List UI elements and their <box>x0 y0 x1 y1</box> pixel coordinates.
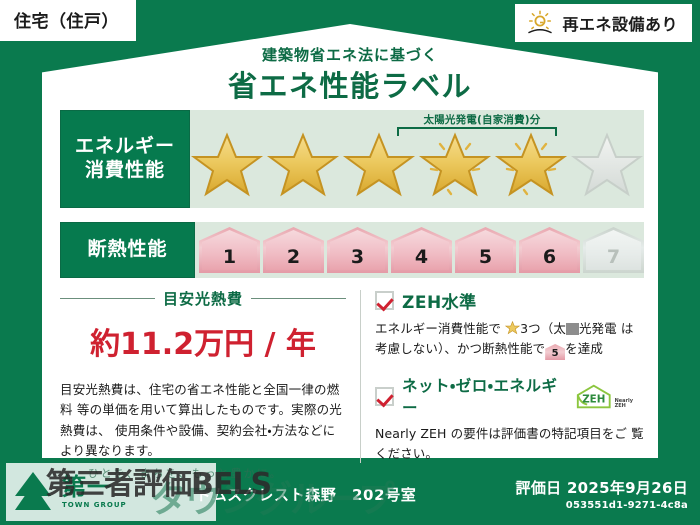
rule-left <box>60 298 155 299</box>
utility-cost-heading: 目安光熱費 <box>60 288 346 309</box>
insulation-grade-3: 3 <box>327 227 388 273</box>
insulation-label: 断熱性能 <box>87 238 167 262</box>
zeh-house-icon: ZEH <box>575 383 613 410</box>
evaluation-info: 評価日 2025年9月26日 053551d1-9271-4c8a <box>516 477 700 511</box>
svg-text:ZEH: ZEH <box>582 393 605 405</box>
claim-nze-body: Nearly ZEH の要件は評価書の特記項目をご 覧ください。 <box>375 424 644 464</box>
label-bottom-section: 目安光熱費 約11.2万円 / 年 目安光熱費は、住宅の省エネ性能と全国一律の燃… <box>60 288 644 478</box>
rule-right <box>251 298 346 299</box>
insulation-grade-5: 5 <box>455 227 516 273</box>
insulation-grade-4: 4 <box>391 227 452 273</box>
insulation-performance-row: 断熱性能 1 2 3 4 5 6 7 <box>60 222 644 278</box>
claim-zeh-text-mid2: 光発電 <box>579 321 617 336</box>
insulation-rating-panel: 1 2 3 4 5 6 7 <box>195 222 644 278</box>
energy-label-line1: エネルギー <box>75 135 175 159</box>
star-1-filled <box>190 128 264 200</box>
claim-zeh-level: ZEH水準 エネルギー消費性能で 3つ（太光発電 は考慮しない）、かつ断熱性能で… <box>375 288 644 360</box>
star-rating <box>190 128 644 200</box>
zeh-logo: ZEH Nearly ZEH <box>575 383 644 410</box>
claim-zeh-body: エネルギー消費性能で 3つ（太光発電 は考慮しない）、かつ断熱性能で5を達成 <box>375 319 644 360</box>
insulation-grade-7: 7 <box>583 227 644 273</box>
star-2-filled <box>266 128 340 200</box>
energy-performance-label-block: エネルギー 消費性能 <box>60 110 190 208</box>
utility-cost-section: 目安光熱費 約11.2万円 / 年 目安光熱費は、住宅の省エネ性能と全国一律の燃… <box>60 288 360 478</box>
zeh-logo-sub: Nearly ZEH <box>615 399 644 410</box>
claim-zeh-title: ZEH水準 <box>402 288 477 313</box>
inline-grade-badge: 5 <box>545 344 565 360</box>
utility-cost-heading-label: 目安光熱費 <box>163 288 243 309</box>
sun-icon <box>525 10 555 36</box>
claim-zeh-header: ZEH水準 <box>375 288 644 313</box>
insulation-grade-6: 6 <box>519 227 580 273</box>
energy-rating-panel: 太陽光発電(自家消費)分 <box>190 110 644 208</box>
claim-zeh-text-pre: エネルギー消費性能で <box>375 321 501 336</box>
solar-generation-note: 太陽光発電(自家消費)分 <box>382 112 582 127</box>
energy-performance-label: 住宅（住戸） 再エネ設備あり 建築物省エネ法に基づく 省エネ性能ラベル エネルギ… <box>0 0 700 525</box>
insulation-grade-scale: 1 2 3 4 5 6 7 <box>199 227 644 273</box>
claim-net-zero-energy: ネット・ゼロ・エネルギー ZEH Nearly ZEH Nearly ZEH の… <box>375 374 644 464</box>
dwelling-type-tag: 住宅（住戸） <box>0 0 136 41</box>
energy-label-line2: 消費性能 <box>85 159 165 183</box>
insulation-label-block: 断熱性能 <box>60 222 195 278</box>
claim-zeh-text-mid: 3つ（太 <box>520 321 566 336</box>
claim-nze-header: ネット・ゼロ・エネルギー ZEH Nearly ZEH <box>375 374 644 418</box>
insulation-grade-2: 2 <box>263 227 324 273</box>
utility-cost-note: 目安光熱費は、住宅の省エネ性能と全国一律の燃料 等の単価を用いて算出したものです… <box>60 380 346 461</box>
town-logo-sub: TOWN GROUP <box>62 502 127 509</box>
evaluation-id: 053551d1-9271-4c8a <box>516 500 688 511</box>
checkbox-checked-icon <box>375 291 394 310</box>
redaction-mask <box>566 323 579 335</box>
checkbox-checked-icon <box>375 387 394 406</box>
claim-zeh-text-line2-post: を達成 <box>565 341 603 356</box>
claim-nze-line1: Nearly ZEH の要件は評価書の特記項目をご <box>375 426 627 441</box>
star-5-filled-solar <box>494 128 568 200</box>
star-3-filled <box>342 128 416 200</box>
star-6-empty <box>570 128 644 200</box>
renewable-badge-label: 再エネ設備あり <box>562 11 678 35</box>
insulation-grade-1: 1 <box>199 227 260 273</box>
claim-nze-title: ネット・ゼロ・エネルギー <box>402 374 563 418</box>
inline-star-icon <box>505 320 520 335</box>
star-4-filled-solar <box>418 128 492 200</box>
label-subtitle: 建築物省エネ法に基づく <box>0 44 700 65</box>
claims-section: ZEH水準 エネルギー消費性能で 3つ（太光発電 は考慮しない）、かつ断熱性能で… <box>373 288 644 478</box>
utility-cost-value: 約11.2万円 / 年 <box>60 319 346 363</box>
evaluation-date: 評価日 2025年9月26日 <box>516 477 688 498</box>
label-title: 省エネ性能ラベル <box>0 63 700 105</box>
energy-performance-row: エネルギー 消費性能 太陽光発電(自家消費)分 <box>60 110 644 208</box>
vertical-divider <box>360 290 361 476</box>
watermark-bels: 第三者評価BELS <box>46 459 271 503</box>
renewable-equipment-badge: 再エネ設備あり <box>515 4 692 42</box>
